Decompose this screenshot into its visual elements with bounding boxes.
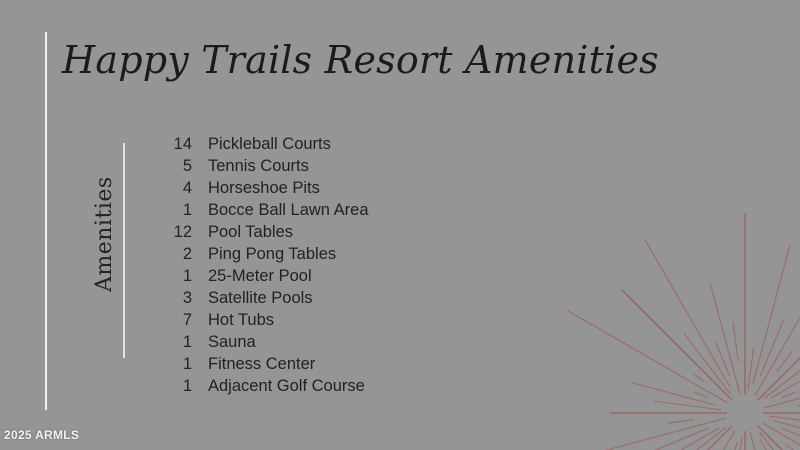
- amenity-label: Hot Tubs: [208, 309, 274, 331]
- amenity-list: 14Pickleball Courts5Tennis Courts4Horses…: [150, 133, 570, 397]
- amenity-count: 12: [150, 221, 192, 243]
- amenity-row: 125-Meter Pool: [150, 265, 570, 287]
- amenity-count: 1: [150, 331, 192, 353]
- amenity-label: Horseshoe Pits: [208, 177, 320, 199]
- page-title: Happy Trails Resort Amenities: [62, 40, 659, 82]
- amenity-count: 1: [150, 375, 192, 397]
- amenity-row: 1Sauna: [150, 331, 570, 353]
- amenity-label: Satellite Pools: [208, 287, 313, 309]
- amenity-label: Fitness Center: [208, 353, 315, 375]
- amenity-row: 1Fitness Center: [150, 353, 570, 375]
- amenity-row: 1Bocce Ball Lawn Area: [150, 199, 570, 221]
- watermark: 2025 ARMLS: [4, 428, 79, 442]
- amenity-count: 7: [150, 309, 192, 331]
- inner-vertical-rule: [123, 143, 125, 358]
- amenity-count: 1: [150, 353, 192, 375]
- section-side-label: Amenities: [92, 112, 117, 292]
- amenity-count: 1: [150, 265, 192, 287]
- amenity-label: Pool Tables: [208, 221, 293, 243]
- amenity-row: 7Hot Tubs: [150, 309, 570, 331]
- amenity-count: 2: [150, 243, 192, 265]
- slide-canvas: Happy Trails Resort Amenities Amenities …: [0, 0, 800, 450]
- amenity-count: 4: [150, 177, 192, 199]
- amenity-row: 4Horseshoe Pits: [150, 177, 570, 199]
- amenity-label: Pickleball Courts: [208, 133, 331, 155]
- amenity-count: 14: [150, 133, 192, 155]
- outer-vertical-rule: [45, 32, 47, 410]
- amenity-row: 2Ping Pong Tables: [150, 243, 570, 265]
- amenity-count: 3: [150, 287, 192, 309]
- amenity-label: Sauna: [208, 331, 256, 353]
- sunburst-starburst-icon: [545, 213, 800, 450]
- amenity-row: 5Tennis Courts: [150, 155, 570, 177]
- amenity-label: Ping Pong Tables: [208, 243, 336, 265]
- amenity-label: Bocce Ball Lawn Area: [208, 199, 369, 221]
- amenity-row: 14Pickleball Courts: [150, 133, 570, 155]
- amenity-count: 1: [150, 199, 192, 221]
- amenity-label: Adjacent Golf Course: [208, 375, 365, 397]
- amenity-label: 25-Meter Pool: [208, 265, 312, 287]
- amenity-row: 1Adjacent Golf Course: [150, 375, 570, 397]
- amenity-row: 12Pool Tables: [150, 221, 570, 243]
- amenity-label: Tennis Courts: [208, 155, 309, 177]
- amenity-row: 3Satellite Pools: [150, 287, 570, 309]
- amenity-count: 5: [150, 155, 192, 177]
